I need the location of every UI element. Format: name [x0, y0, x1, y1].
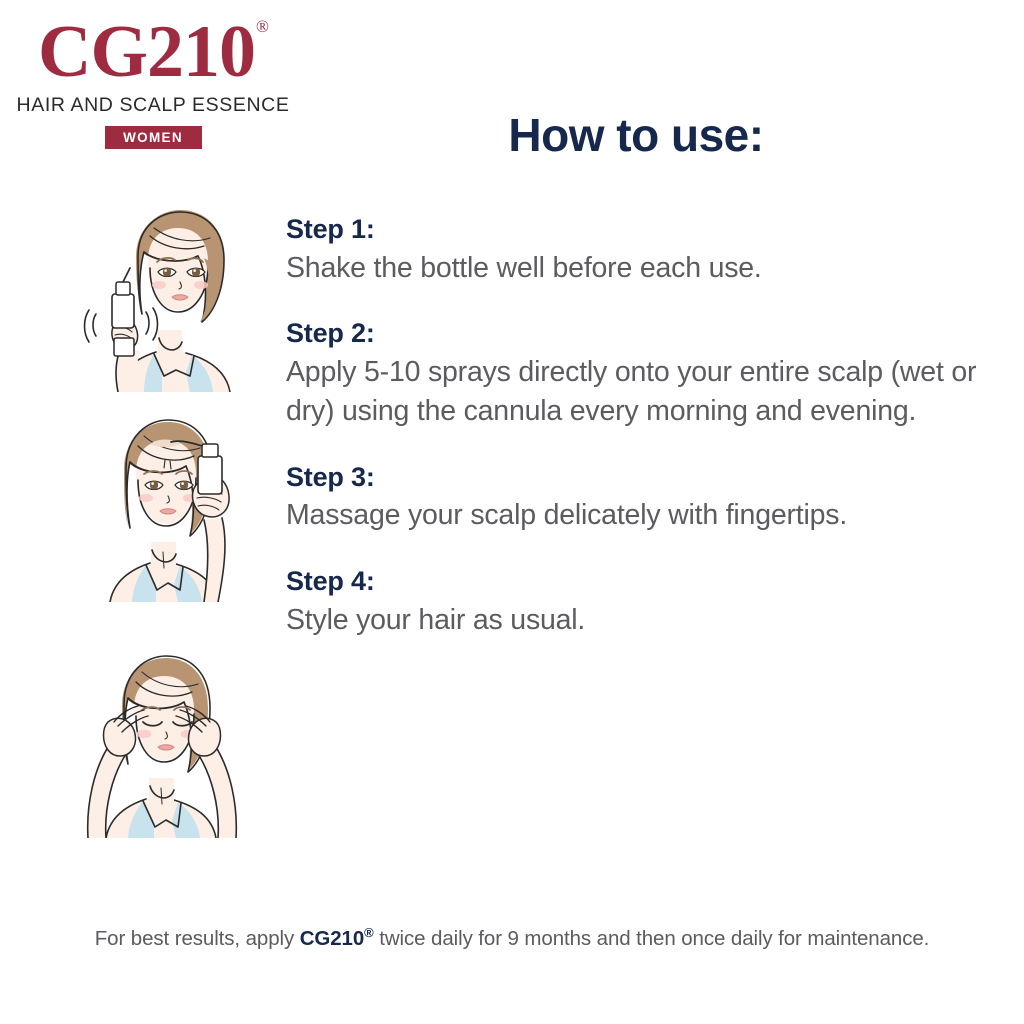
brand-tagline: HAIR AND SCALP ESSENCE — [14, 94, 292, 117]
step-2-title: Step 2: — [286, 316, 1006, 351]
step-1-body: Shake the bottle well before each use. — [286, 249, 1006, 289]
step-3-body: Massage your scalp delicately with finge… — [286, 496, 1006, 536]
step-2-body: Apply 5-10 sprays directly onto your ent… — [286, 353, 1006, 432]
step-4-body: Style your hair as usual. — [286, 601, 1006, 641]
woman-shaking-bottle-illustration — [58, 202, 266, 392]
footer-registered-icon: ® — [364, 925, 373, 940]
step-2: Step 2: Apply 5-10 sprays directly onto … — [286, 316, 1006, 432]
step-4: Step 4: Style your hair as usual. — [286, 564, 1006, 640]
brand-wordmark: CG210® — [38, 16, 268, 89]
footer-note: For best results, apply CG210® twice dai… — [0, 925, 1024, 951]
step-3: Step 3: Massage your scalp delicately wi… — [286, 460, 1006, 536]
registered-trademark-icon: ® — [256, 17, 269, 36]
footer-lead: For best results, apply — [95, 927, 300, 950]
woman-spraying-scalp-illustration — [58, 412, 266, 602]
brand-logo-block: CG210® HAIR AND SCALP ESSENCE WOMEN — [14, 16, 292, 149]
footer-brandname-text: CG210 — [300, 927, 364, 950]
how-to-use-infographic: CG210® HAIR AND SCALP ESSENCE WOMEN How … — [0, 0, 1024, 1024]
step-1: Step 1: Shake the bottle well before eac… — [286, 212, 1006, 288]
page-title: How to use: — [286, 108, 986, 162]
footer-trail: twice daily for 9 months and then once d… — [374, 927, 930, 950]
brand-wordmark-text: CG210 — [38, 11, 255, 93]
step-4-title: Step 4: — [286, 564, 1006, 599]
step-1-title: Step 1: — [286, 212, 1006, 247]
woman-massaging-scalp-illustration — [58, 648, 266, 838]
step-3-title: Step 3: — [286, 460, 1006, 495]
footer-brandname: CG210® — [300, 927, 374, 950]
steps-list: Step 1: Shake the bottle well before eac… — [286, 212, 1006, 640]
brand-badge-women: WOMEN — [105, 126, 202, 149]
